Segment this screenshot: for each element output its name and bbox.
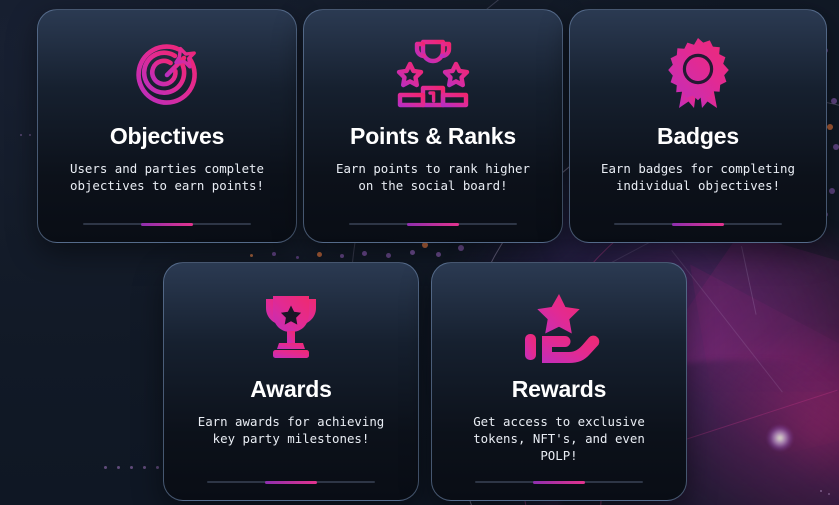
- rosette-badge-icon: [660, 32, 736, 118]
- podium-trophy-icon: [392, 32, 474, 118]
- card-description: Earn awards for achieving key party mile…: [198, 413, 385, 447]
- card-accent-bar: [614, 223, 782, 225]
- card-accent-bar: [475, 481, 643, 483]
- card-title: Rewards: [512, 377, 606, 402]
- card-title: Awards: [250, 377, 331, 402]
- trophy-star-icon: [248, 285, 334, 371]
- feature-card-awards[interactable]: Awards Earn awards for achieving key par…: [163, 262, 419, 501]
- card-accent-bar: [207, 481, 375, 483]
- card-accent-bar: [349, 223, 517, 225]
- hand-star-gift-icon: [511, 285, 607, 371]
- feature-card-badges[interactable]: Badges Earn badges for completing indivi…: [569, 9, 827, 243]
- card-title: Points & Ranks: [350, 124, 516, 149]
- feature-card-rewards[interactable]: Rewards Get access to exclusive tokens, …: [431, 262, 687, 501]
- card-description: Earn badges for completing individual ob…: [601, 160, 795, 194]
- feature-card-points-ranks[interactable]: Points & Ranks Earn points to rank highe…: [303, 9, 563, 243]
- feature-card-grid: Objectives Users and parties complete ob…: [0, 0, 839, 505]
- card-description: Earn points to rank higher on the social…: [336, 160, 530, 194]
- card-title: Objectives: [110, 124, 224, 149]
- card-accent-bar: [83, 223, 251, 225]
- feature-card-objectives[interactable]: Objectives Users and parties complete ob…: [37, 9, 297, 243]
- card-description: Get access to exclusive tokens, NFT's, a…: [473, 413, 645, 464]
- card-title: Badges: [657, 124, 739, 149]
- card-description: Users and parties complete objectives to…: [70, 160, 264, 194]
- target-icon: [128, 32, 206, 118]
- page-root: Objectives Users and parties complete ob…: [0, 0, 839, 505]
